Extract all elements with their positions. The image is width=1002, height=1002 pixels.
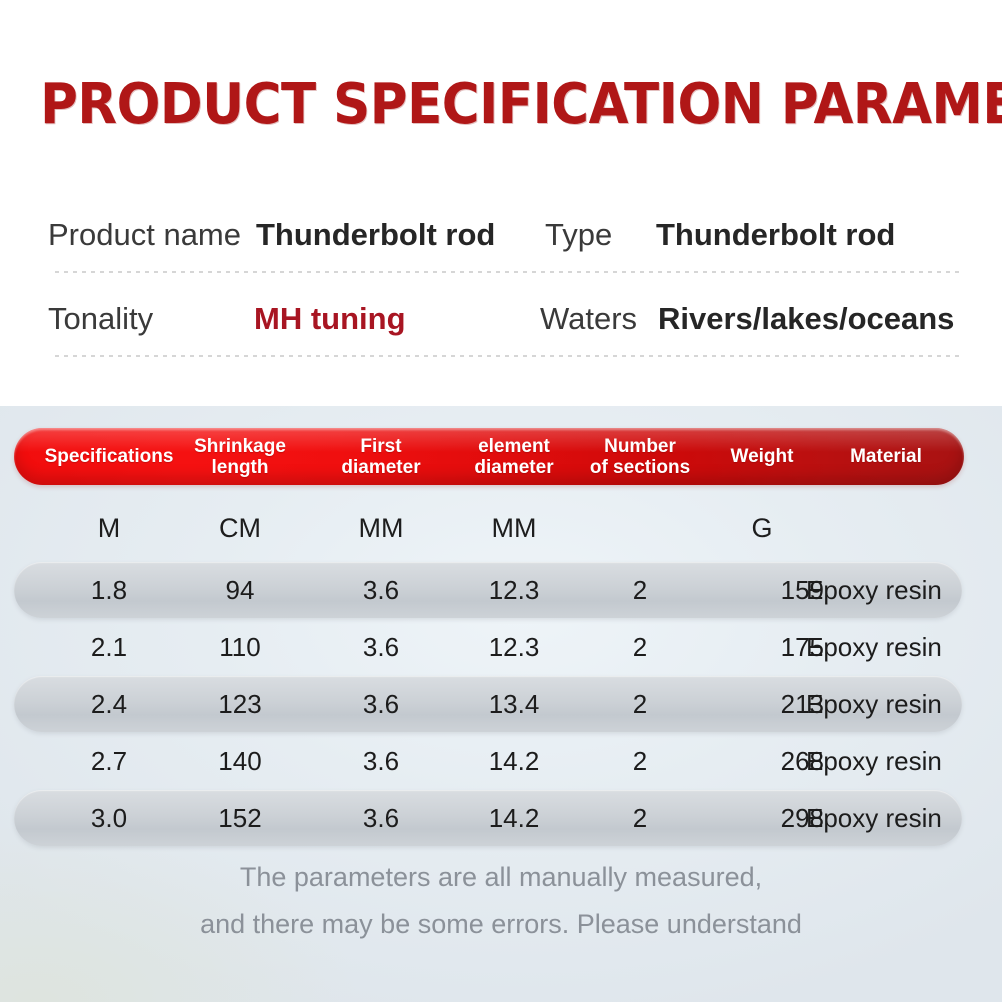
column-header-first-diameter: First diameter: [316, 428, 446, 485]
cell-element-diameter: 12.3: [452, 619, 576, 675]
cell-material: Epoxy resin: [806, 562, 966, 618]
cell-material: Epoxy resin: [806, 733, 966, 789]
table-row: 1.8943.612.32159Epoxy resin: [0, 562, 1002, 618]
cell-shrinkage-length: 94: [176, 562, 304, 618]
column-header-material: Material: [806, 428, 964, 485]
cell-first-diameter: 3.6: [316, 676, 446, 732]
unit-element-diameter: MM: [452, 502, 576, 554]
table-row: 2.71403.614.22268Epoxy resin: [0, 733, 1002, 789]
unit-weight: G: [700, 502, 824, 554]
product-name-value: Thunderbolt rod: [256, 206, 495, 264]
cell-material: Epoxy resin: [806, 790, 966, 846]
column-header-shrinkage-length: Shrinkage length: [176, 428, 304, 485]
cell-number-of-sections: 2: [580, 790, 700, 846]
table-row: 2.41233.613.42213Epoxy resin: [0, 676, 1002, 732]
footer-note-line-2: and there may be some errors. Please und…: [0, 909, 1002, 940]
divider-2: [55, 355, 962, 357]
cell-material: Epoxy resin: [806, 619, 966, 675]
cell-shrinkage-length: 152: [176, 790, 304, 846]
column-header-element-diameter: element diameter: [452, 428, 576, 485]
column-header-number-of-sections: Number of sections: [580, 428, 700, 485]
cell-specifications: 2.7: [22, 733, 196, 789]
page-title: PRODUCT SPECIFICATION PARAMETERS: [40, 72, 962, 137]
footer-note-line-1: The parameters are all manually measured…: [0, 862, 1002, 893]
cell-number-of-sections: 2: [580, 733, 700, 789]
product-name-label: Product name: [48, 206, 241, 264]
cell-number-of-sections: 2: [580, 562, 700, 618]
table-header-bar: SpecificationsShrinkage lengthFirst diam…: [14, 428, 964, 485]
cell-specifications: 3.0: [22, 790, 196, 846]
waters-value: Rivers/lakes/oceans: [658, 290, 954, 348]
waters-label: Waters: [540, 290, 637, 348]
cell-specifications: 2.4: [22, 676, 196, 732]
type-label: Type: [545, 206, 612, 264]
cell-shrinkage-length: 140: [176, 733, 304, 789]
unit-first-diameter: MM: [316, 502, 446, 554]
cell-specifications: 1.8: [22, 562, 196, 618]
cell-specifications: 2.1: [22, 619, 196, 675]
divider-1: [55, 271, 962, 273]
cell-element-diameter: 12.3: [452, 562, 576, 618]
cell-first-diameter: 3.6: [316, 733, 446, 789]
cell-element-diameter: 14.2: [452, 733, 576, 789]
cell-first-diameter: 3.6: [316, 790, 446, 846]
tonality-value: MH tuning: [254, 290, 406, 348]
info-row-tonality: Tonality MH tuning Waters Rivers/lakes/o…: [48, 290, 963, 348]
cell-first-diameter: 3.6: [316, 562, 446, 618]
table-row: 2.11103.612.32175Epoxy resin: [0, 619, 1002, 675]
unit-specifications: M: [22, 502, 196, 554]
column-header-specifications: Specifications: [22, 428, 196, 485]
cell-first-diameter: 3.6: [316, 619, 446, 675]
cell-number-of-sections: 2: [580, 619, 700, 675]
unit-shrinkage-length: CM: [176, 502, 304, 554]
cell-element-diameter: 13.4: [452, 676, 576, 732]
cell-shrinkage-length: 123: [176, 676, 304, 732]
table-row: 3.01523.614.22298Epoxy resin: [0, 790, 1002, 846]
tonality-label: Tonality: [48, 290, 153, 348]
info-row-product: Product name Thunderbolt rod Type Thunde…: [48, 206, 963, 264]
cell-element-diameter: 14.2: [452, 790, 576, 846]
cell-number-of-sections: 2: [580, 676, 700, 732]
table-units-row: MCMMMMMG: [0, 502, 1002, 554]
type-value: Thunderbolt rod: [656, 206, 895, 264]
cell-material: Epoxy resin: [806, 676, 966, 732]
product-spec-page: PRODUCT SPECIFICATION PARAMETERS Product…: [0, 0, 1002, 1002]
cell-shrinkage-length: 110: [176, 619, 304, 675]
